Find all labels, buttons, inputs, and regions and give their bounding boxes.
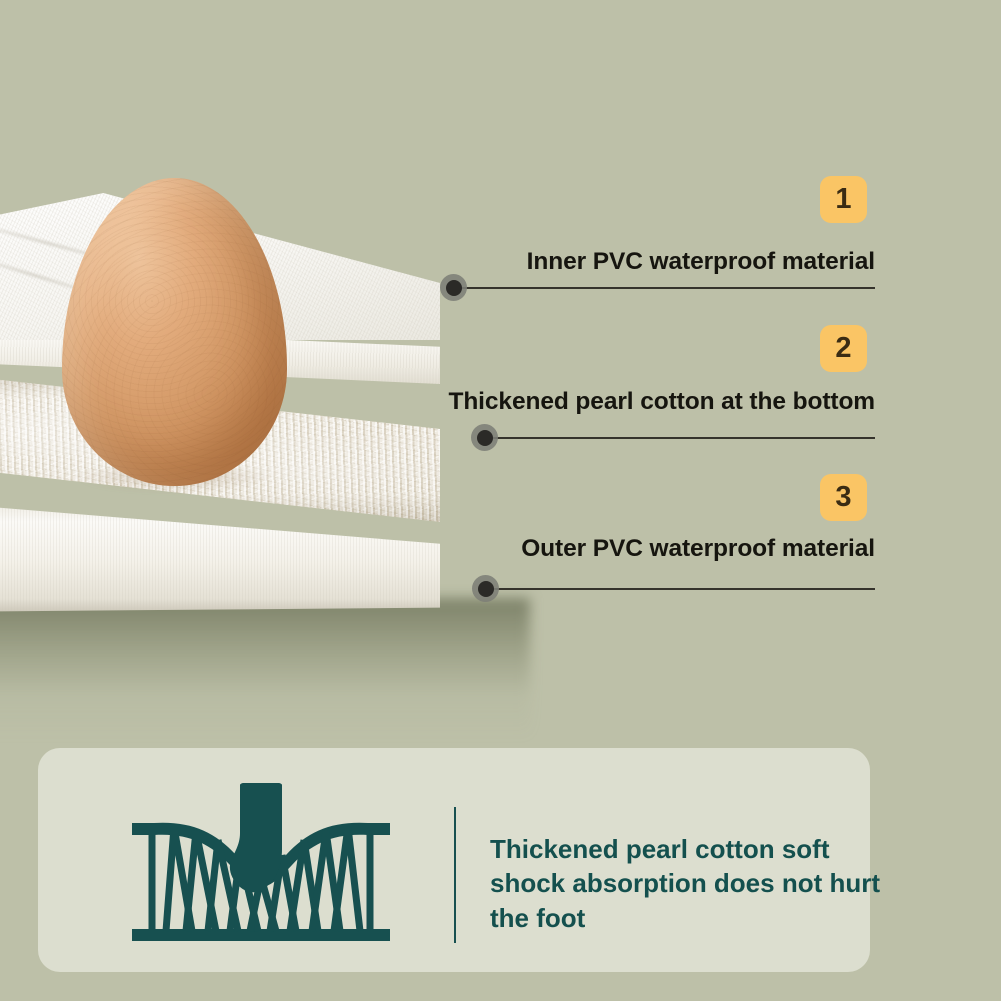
feature-panel: Thickened pearl cotton soft shock absorp… xyxy=(38,748,870,972)
callout-label-1: Inner PVC waterproof material xyxy=(0,248,875,276)
feature-panel-text: Thickened pearl cotton soft shock absorp… xyxy=(490,832,882,935)
callout-badge-2: 2 xyxy=(820,325,867,372)
panel-divider xyxy=(454,807,456,943)
mattress-drop-shadow xyxy=(0,598,530,738)
callout-rule-3 xyxy=(487,588,875,590)
callout-rule-1 xyxy=(455,287,875,289)
callout-dot-2 xyxy=(471,424,498,451)
callout-dot-1 xyxy=(440,274,467,301)
spring-shock-absorption-icon xyxy=(130,783,392,948)
callout-dot-3 xyxy=(472,575,499,602)
callout-label-2: Thickened pearl cotton at the bottom xyxy=(0,388,875,416)
callout-rule-2 xyxy=(486,437,875,439)
infographic-root: 1 Inner PVC waterproof material 2 Thicke… xyxy=(0,0,1001,1001)
callout-badge-3: 3 xyxy=(820,474,867,521)
callout-label-3: Outer PVC waterproof material xyxy=(0,535,875,563)
callout-badge-1: 1 xyxy=(820,176,867,223)
